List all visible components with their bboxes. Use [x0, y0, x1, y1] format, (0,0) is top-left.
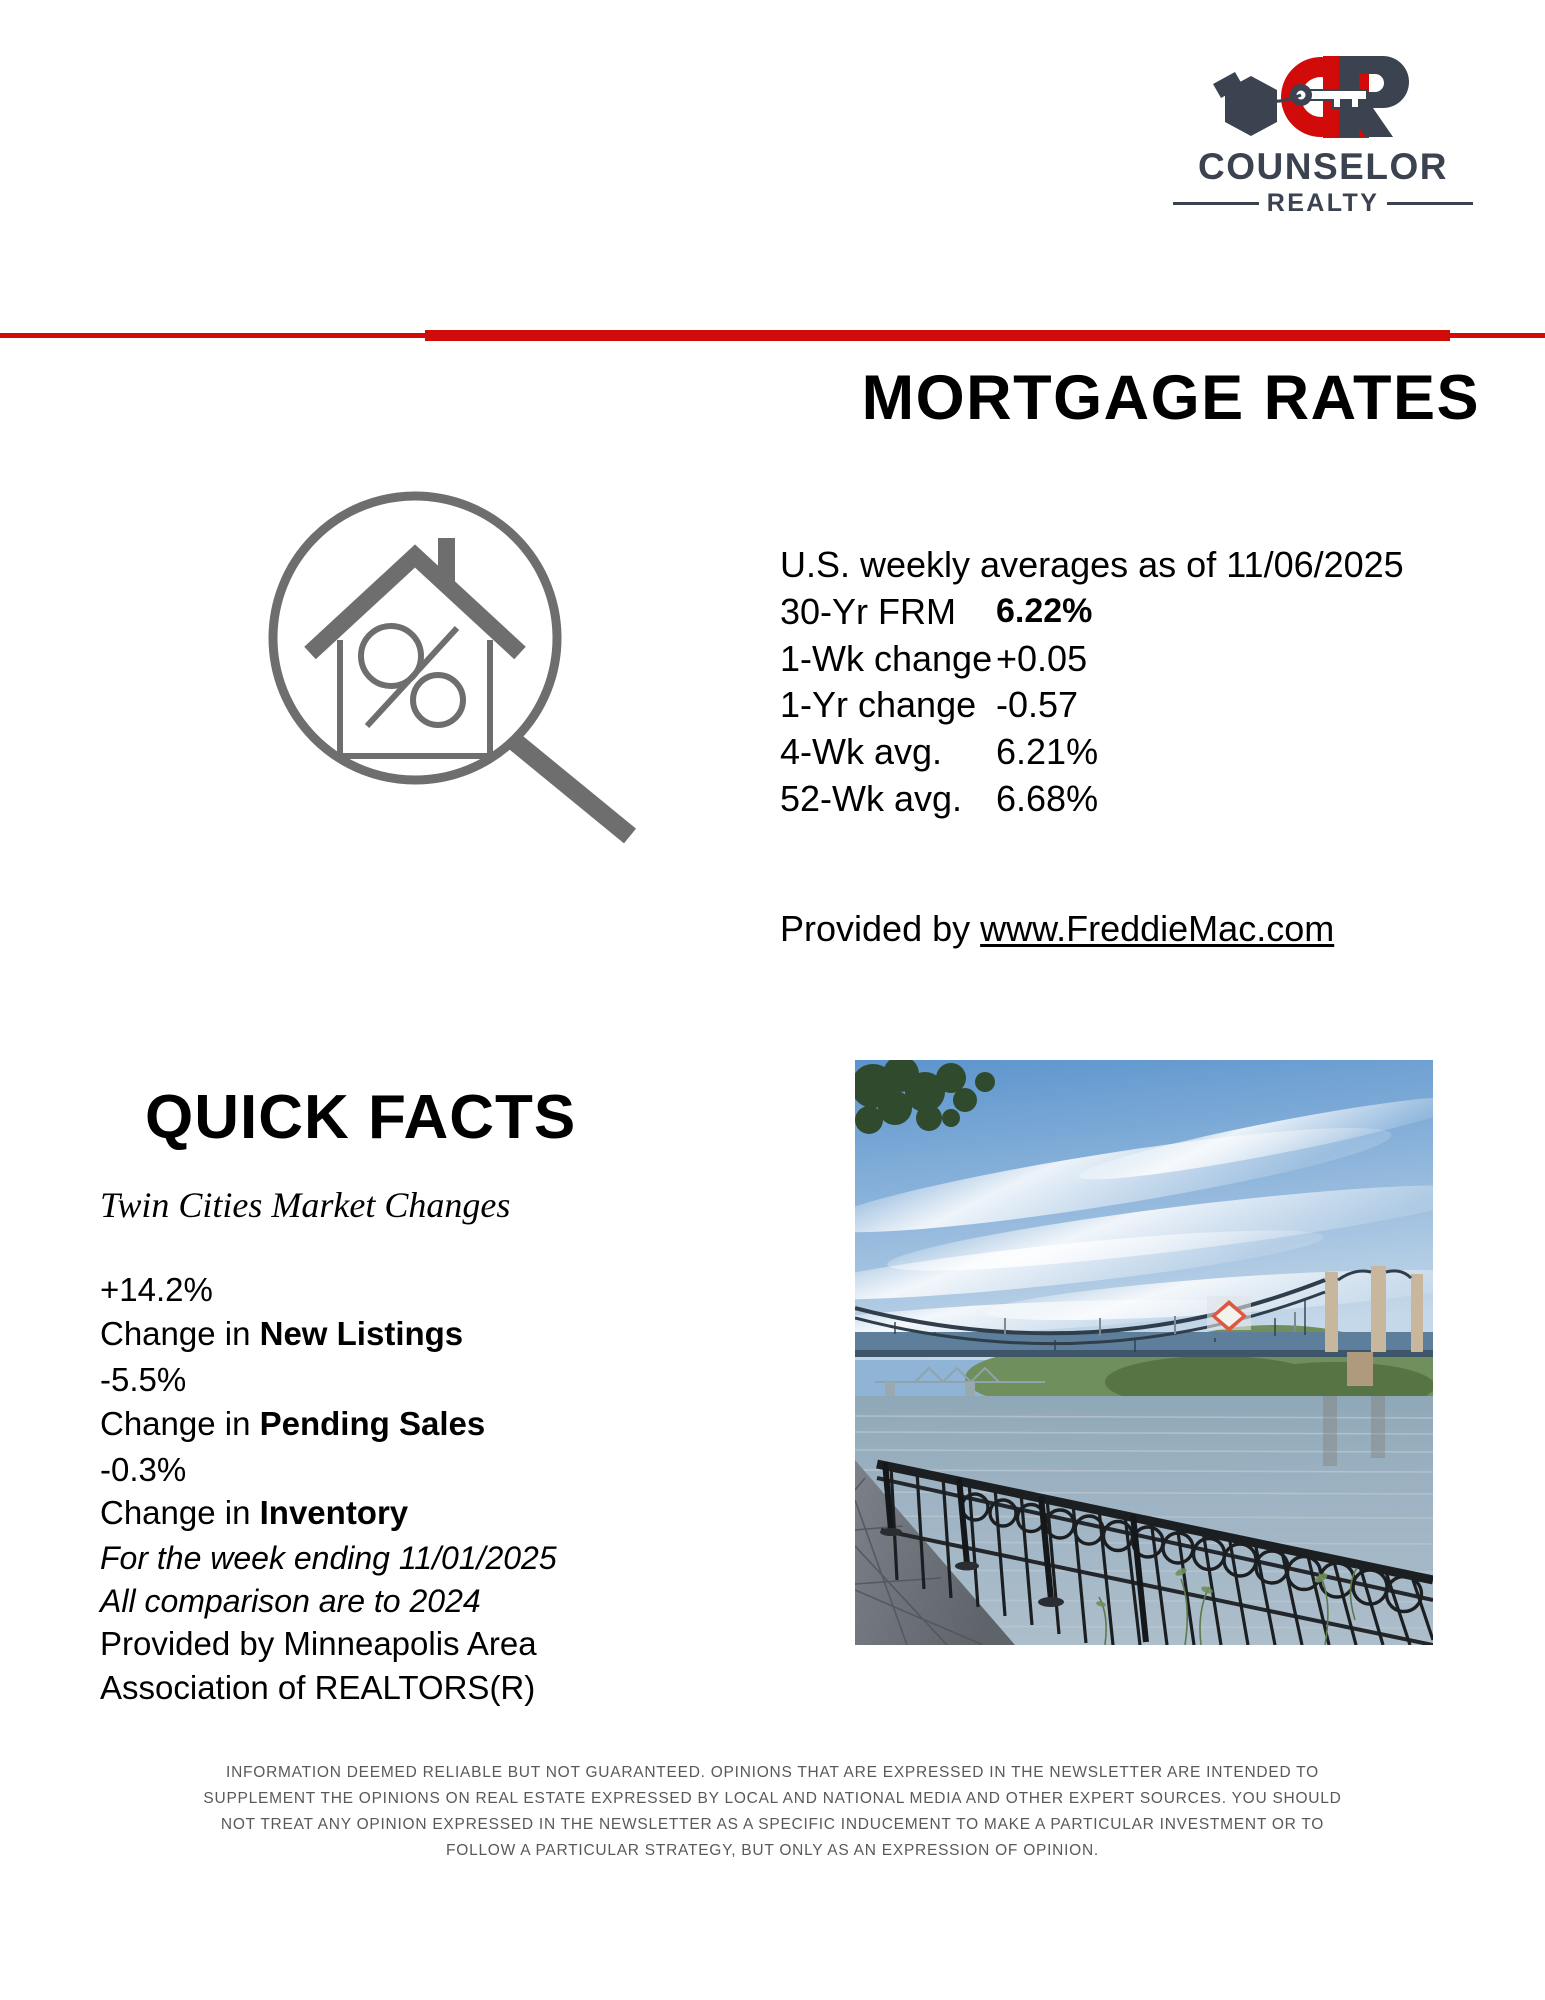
- brand-name: COUNSELOR: [1173, 148, 1473, 186]
- tagline-rule-right: [1387, 202, 1473, 205]
- fact-value: -5.5%: [100, 1358, 760, 1402]
- fact-metric-name: Inventory: [260, 1494, 409, 1531]
- rates-headline: U.S. weekly averages as of 11/06/2025: [780, 542, 1460, 589]
- rate-label: 30-Yr FRM: [780, 589, 996, 636]
- freddie-mac-attribution: Provided by www.FreddieMac.com: [780, 908, 1334, 950]
- mortgage-rates-table: U.S. weekly averages as of 11/06/2025 30…: [780, 542, 1460, 823]
- house-percent-magnifier-icon: [252, 478, 642, 848]
- quick-facts-title: QUICK FACTS: [145, 1082, 576, 1153]
- rate-value: 6.21%: [996, 729, 1098, 776]
- rate-row: 4-Wk avg. 6.21%: [780, 729, 1460, 776]
- rate-label: 1-Wk change: [780, 636, 996, 683]
- fact-desc-prefix: Change in: [100, 1494, 260, 1531]
- disclaimer-line-3: NOT TREAT ANY OPINION EXPRESSED IN THE N…: [150, 1812, 1395, 1838]
- divider-rule-thick: [425, 330, 1450, 341]
- disclaimer-line-2: SUPPLEMENT THE OPINIONS ON REAL ESTATE E…: [150, 1786, 1395, 1812]
- fact-metric-name: Pending Sales: [260, 1405, 486, 1442]
- disclaimer-line-4: FOLLOW A PARTICULAR STRATEGY, BUT ONLY A…: [150, 1838, 1395, 1864]
- fact-description: Change in Pending Sales: [100, 1402, 760, 1446]
- brand-tagline-row: REALTY: [1173, 189, 1473, 218]
- quick-facts-subtitle: Twin Cities Market Changes: [100, 1184, 510, 1226]
- disclaimer-text: INFORMATION DEEMED RELIABLE BUT NOT GUAR…: [150, 1760, 1395, 1864]
- rate-value: 6.68%: [996, 776, 1098, 823]
- brand-tagline: REALTY: [1267, 189, 1380, 218]
- rate-label: 1-Yr change: [780, 682, 996, 729]
- fact-description: Change in New Listings: [100, 1312, 760, 1356]
- cr-key-house-icon: [1173, 48, 1473, 146]
- fact-value: +14.2%: [100, 1268, 760, 1312]
- rate-row: 52-Wk avg. 6.68%: [780, 776, 1460, 823]
- photo-artwork: [855, 1060, 1433, 1645]
- mortgage-rates-title: MORTGAGE RATES: [780, 362, 1480, 434]
- fact-description: Change in Inventory: [100, 1491, 760, 1535]
- quick-facts-note-comparison: All comparison are to 2024: [100, 1580, 760, 1623]
- rate-row: 30-Yr FRM 6.22%: [780, 589, 1460, 636]
- rate-label: 4-Wk avg.: [780, 729, 996, 776]
- tagline-rule-left: [1173, 202, 1259, 205]
- provided-by-label: Provided by: [780, 908, 980, 949]
- newsletter-page: COUNSELOR REALTY MORTGAGE RATES U.S. wee…: [0, 0, 1545, 2000]
- minneapolis-riverwalk-bridge-photo: [855, 1060, 1433, 1645]
- rate-value: -0.57: [996, 682, 1078, 729]
- brand-logo: COUNSELOR REALTY: [1173, 48, 1473, 218]
- rate-row: 1-Wk change +0.05: [780, 636, 1460, 683]
- fact-desc-prefix: Change in: [100, 1315, 260, 1352]
- rate-value: 6.22%: [996, 589, 1092, 636]
- quick-facts-credit-line2: Association of REALTORS(R): [100, 1666, 760, 1710]
- quick-facts-credit-line1: Provided by Minneapolis Area: [100, 1622, 760, 1666]
- rate-label: 52-Wk avg.: [780, 776, 996, 823]
- quick-facts-list: +14.2% Change in New Listings -5.5% Chan…: [100, 1268, 760, 1710]
- rate-value: +0.05: [996, 636, 1087, 683]
- fact-metric-name: New Listings: [260, 1315, 464, 1352]
- freddie-mac-link[interactable]: www.FreddieMac.com: [980, 908, 1334, 949]
- fact-desc-prefix: Change in: [100, 1405, 260, 1442]
- fact-value: -0.3%: [100, 1448, 760, 1492]
- disclaimer-line-1: INFORMATION DEEMED RELIABLE BUT NOT GUAR…: [150, 1760, 1395, 1786]
- quick-facts-note-week: For the week ending 11/01/2025: [100, 1537, 760, 1580]
- rate-row: 1-Yr change -0.57: [780, 682, 1460, 729]
